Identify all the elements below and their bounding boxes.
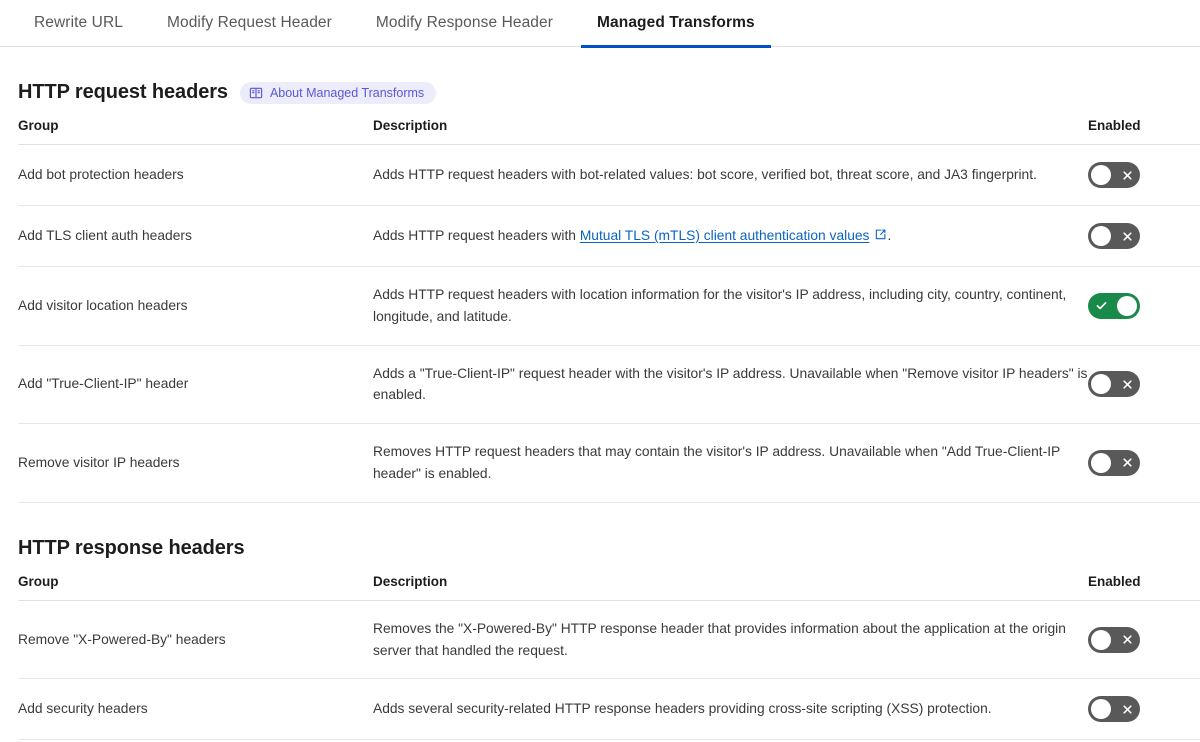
toggle-add-true-client-ip-header[interactable] xyxy=(1088,371,1140,397)
toggle-knob xyxy=(1091,699,1111,719)
tab-modify-response-header[interactable]: Modify Response Header xyxy=(360,0,569,47)
tab-modify-request-header[interactable]: Modify Request Header xyxy=(151,0,348,47)
page-title-response: HTTP response headers xyxy=(18,537,245,560)
toggle-knob xyxy=(1091,165,1111,185)
row-group-label: Add TLS client auth headers xyxy=(18,206,373,267)
column-header-enabled: Enabled xyxy=(1088,118,1200,145)
row-description: Adds HTTP request headers with Mutual TL… xyxy=(373,206,1088,267)
about-managed-transforms-badge[interactable]: About Managed Transforms xyxy=(240,82,436,104)
toggle-add-security-headers[interactable] xyxy=(1088,696,1140,722)
row-description-suffix: . xyxy=(887,228,891,243)
row-group-label: Remove "X-Powered-By" headers xyxy=(18,600,373,679)
table-row: Add security headers Adds several securi… xyxy=(18,679,1200,740)
toggle-knob xyxy=(1091,453,1111,473)
external-link-icon[interactable] xyxy=(874,226,887,248)
http-response-headers-section: HTTP response headers Group Description … xyxy=(0,537,1200,742)
tab-rewrite-url[interactable]: Rewrite URL xyxy=(18,0,139,47)
tab-managed-transforms[interactable]: Managed Transforms xyxy=(581,0,771,47)
close-icon xyxy=(1114,627,1140,653)
close-icon xyxy=(1114,696,1140,722)
close-icon xyxy=(1114,371,1140,397)
row-enabled-cell xyxy=(1088,267,1200,346)
row-description: Adds several security-related HTTP respo… xyxy=(373,679,1088,740)
row-group-label: Add security headers xyxy=(18,679,373,740)
row-group-label: Add bot protection headers xyxy=(18,145,373,206)
column-header-group: Group xyxy=(18,118,373,145)
table-row: Remove "X-Powered-By" headers Removes th… xyxy=(18,600,1200,679)
toggle-knob xyxy=(1091,630,1111,650)
toggle-knob xyxy=(1091,226,1111,246)
book-icon xyxy=(249,86,263,100)
row-description-prefix: Adds HTTP request headers with xyxy=(373,228,580,243)
row-group-label: Add "True-Client-IP" header xyxy=(18,345,373,424)
column-header-enabled: Enabled xyxy=(1088,574,1200,601)
row-description: Removes HTTP request headers that may co… xyxy=(373,424,1088,503)
toggle-knob xyxy=(1117,296,1137,316)
close-icon xyxy=(1114,223,1140,249)
row-enabled-cell xyxy=(1088,424,1200,503)
column-header-description: Description xyxy=(373,574,1088,601)
toggle-remove-x-powered-by-headers[interactable] xyxy=(1088,627,1140,653)
row-enabled-cell xyxy=(1088,345,1200,424)
row-enabled-cell xyxy=(1088,206,1200,267)
row-description: Adds HTTP request headers with bot-relat… xyxy=(373,145,1088,206)
toggle-add-tls-client-auth-headers[interactable] xyxy=(1088,223,1140,249)
request-section-header: HTTP request headers About Managed Trans… xyxy=(18,81,1182,104)
check-icon xyxy=(1088,293,1114,319)
row-group-label: Add visitor location headers xyxy=(18,267,373,346)
toggle-add-bot-protection-headers[interactable] xyxy=(1088,162,1140,188)
row-description: Adds a "True-Client-IP" request header w… xyxy=(373,345,1088,424)
table-header-row: Group Description Enabled xyxy=(18,574,1200,601)
table-row: Remove visitor IP headers Removes HTTP r… xyxy=(18,424,1200,503)
mtls-documentation-link[interactable]: Mutual TLS (mTLS) client authentication … xyxy=(580,228,870,243)
column-header-description: Description xyxy=(373,118,1088,145)
row-description: Adds HTTP request headers with location … xyxy=(373,267,1088,346)
table-row: Add bot protection headers Adds HTTP req… xyxy=(18,145,1200,206)
table-header-row: Group Description Enabled xyxy=(18,118,1200,145)
close-icon xyxy=(1114,450,1140,476)
tab-bar: Rewrite URL Modify Request Header Modify… xyxy=(0,0,1200,47)
response-headers-table: Group Description Enabled Remove "X-Powe… xyxy=(18,574,1200,741)
table-row: Add TLS client auth headers Adds HTTP re… xyxy=(18,206,1200,267)
row-description: Removes the "X-Powered-By" HTTP response… xyxy=(373,600,1088,679)
close-icon xyxy=(1114,162,1140,188)
column-header-group: Group xyxy=(18,574,373,601)
page-title-request: HTTP request headers xyxy=(18,81,228,104)
row-enabled-cell xyxy=(1088,679,1200,740)
http-request-headers-section: HTTP request headers About Managed Trans… xyxy=(0,81,1200,503)
table-row: Add "True-Client-IP" header Adds a "True… xyxy=(18,345,1200,424)
toggle-knob xyxy=(1091,374,1111,394)
row-enabled-cell xyxy=(1088,145,1200,206)
about-badge-label: About Managed Transforms xyxy=(270,86,424,100)
row-enabled-cell xyxy=(1088,600,1200,679)
toggle-add-visitor-location-headers[interactable] xyxy=(1088,293,1140,319)
request-headers-table: Group Description Enabled Add bot protec… xyxy=(18,118,1200,503)
row-group-label: Remove visitor IP headers xyxy=(18,424,373,503)
response-section-header: HTTP response headers xyxy=(18,537,1182,560)
toggle-remove-visitor-ip-headers[interactable] xyxy=(1088,450,1140,476)
table-row: Add visitor location headers Adds HTTP r… xyxy=(18,267,1200,346)
